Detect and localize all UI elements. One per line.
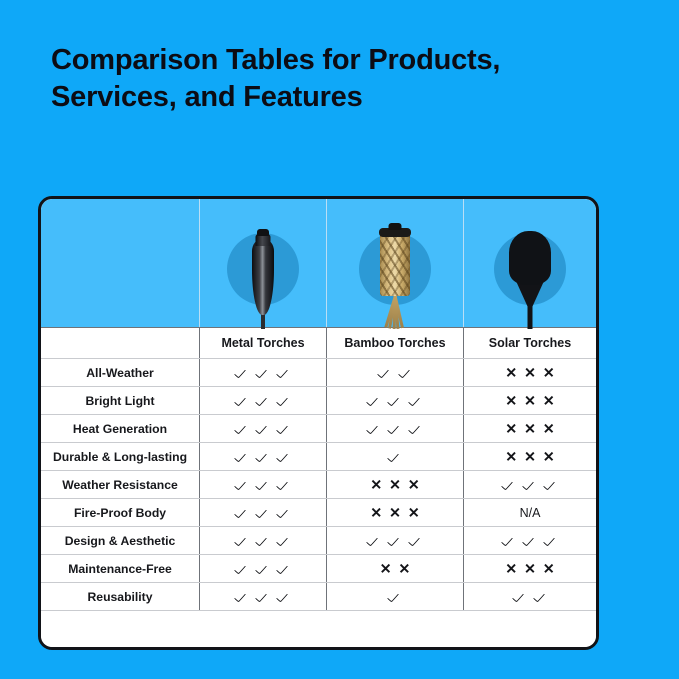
cross-icon: ✕ (524, 561, 536, 575)
check-icon (256, 506, 270, 520)
check-icon (534, 590, 548, 604)
check-icon (277, 478, 291, 492)
feature-label: Design & Aesthetic (41, 527, 199, 554)
feature-label: Heat Generation (41, 415, 199, 442)
mark-group (388, 590, 402, 604)
check-icon (256, 562, 270, 576)
cross-icon: ✕ (389, 477, 401, 491)
mark-group (235, 478, 291, 492)
rating-cell-bamboo: ✕✕✕ (326, 471, 463, 498)
table-row: Weather Resistance✕✕✕ (41, 470, 596, 498)
check-icon (235, 422, 249, 436)
check-icon (388, 590, 402, 604)
rating-cell-metal (199, 443, 326, 470)
rating-cell-solar: ✕✕✕ (463, 555, 596, 582)
feature-label: Bright Light (41, 387, 199, 414)
feature-label: Fire-Proof Body (41, 499, 199, 526)
table-row: All-Weather✕✕✕ (41, 358, 596, 386)
table-row: Maintenance-Free✕✕✕✕✕ (41, 554, 596, 582)
bamboo-torch-image-cell (326, 199, 463, 327)
cross-icon: ✕ (505, 393, 517, 407)
mark-group (367, 394, 423, 408)
mark-group (235, 506, 291, 520)
poster-canvas: Comparison Tables for Products, Services… (0, 0, 679, 679)
feature-label: Reusability (41, 583, 199, 610)
check-icon (388, 394, 402, 408)
check-icon (235, 562, 249, 576)
corner-empty-cell (41, 199, 199, 327)
check-icon (388, 450, 402, 464)
product-image-row (41, 199, 596, 327)
mark-group (502, 534, 558, 548)
mark-group: ✕✕✕ (505, 394, 554, 408)
check-icon (502, 534, 516, 548)
column-header-bamboo: Bamboo Torches (326, 328, 463, 358)
rating-cell-metal (199, 387, 326, 414)
bamboo-torch-woven-body (380, 233, 410, 296)
check-icon (513, 590, 527, 604)
mark-group: N/A (520, 506, 541, 520)
mark-group (513, 590, 548, 604)
rating-cell-metal (199, 527, 326, 554)
mark-group: ✕✕✕ (370, 506, 419, 520)
check-icon (277, 450, 291, 464)
check-icon (502, 478, 516, 492)
check-icon (523, 534, 537, 548)
mark-group: ✕✕✕ (370, 478, 419, 492)
bamboo-torch-knob (389, 223, 402, 230)
column-header-solar: Solar Torches (463, 328, 596, 358)
mark-group (388, 450, 402, 464)
rating-cell-metal (199, 471, 326, 498)
mark-group (235, 450, 291, 464)
check-icon (256, 422, 270, 436)
rating-cell-solar (463, 527, 596, 554)
not-applicable-label: N/A (520, 506, 541, 520)
mark-group: ✕✕ (380, 562, 410, 576)
check-icon (277, 422, 291, 436)
mark-group (235, 590, 291, 604)
cross-icon: ✕ (524, 421, 536, 435)
check-icon (409, 422, 423, 436)
rating-cell-solar: N/A (463, 499, 596, 526)
mark-group: ✕✕✕ (505, 450, 554, 464)
cross-icon: ✕ (524, 393, 536, 407)
check-icon (256, 366, 270, 380)
mark-group (367, 534, 423, 548)
table-row: Durable & Long-lasting✕✕✕ (41, 442, 596, 470)
mark-group (378, 366, 413, 380)
rating-cell-solar: ✕✕✕ (463, 415, 596, 442)
solar-torch-image (507, 229, 553, 329)
cross-icon: ✕ (543, 421, 555, 435)
mark-group (235, 534, 291, 548)
cross-icon: ✕ (543, 365, 555, 379)
check-icon (235, 506, 249, 520)
table-body: All-Weather✕✕✕Bright Light✕✕✕Heat Genera… (41, 358, 596, 610)
cross-icon: ✕ (543, 561, 555, 575)
bamboo-torch-image (372, 221, 418, 329)
cross-icon: ✕ (380, 561, 392, 575)
table-row: Reusability (41, 582, 596, 610)
rating-cell-solar (463, 471, 596, 498)
table-footer-strip (41, 610, 596, 647)
check-icon (277, 366, 291, 380)
metal-torch-body (252, 239, 274, 315)
column-header-row: Metal Torches Bamboo Torches Solar Torch… (41, 327, 596, 358)
check-icon (388, 422, 402, 436)
cross-icon: ✕ (408, 477, 420, 491)
metal-torch-image (243, 225, 283, 329)
cross-icon: ✕ (370, 477, 382, 491)
cross-icon: ✕ (524, 365, 536, 379)
rating-cell-bamboo (326, 415, 463, 442)
table-row: Design & Aesthetic (41, 526, 596, 554)
cross-icon: ✕ (524, 449, 536, 463)
rating-cell-metal (199, 555, 326, 582)
feature-label: All-Weather (41, 359, 199, 386)
cross-icon: ✕ (505, 365, 517, 379)
mark-group (235, 366, 291, 380)
check-icon (235, 366, 249, 380)
table-row: Bright Light✕✕✕ (41, 386, 596, 414)
rating-cell-bamboo (326, 387, 463, 414)
check-icon (277, 394, 291, 408)
check-icon (399, 366, 413, 380)
rating-cell-metal (199, 359, 326, 386)
mark-group (235, 562, 291, 576)
check-icon (256, 534, 270, 548)
cross-icon: ✕ (370, 505, 382, 519)
check-icon (367, 394, 381, 408)
mark-group: ✕✕✕ (505, 422, 554, 436)
rating-cell-metal (199, 499, 326, 526)
comparison-table: Metal Torches Bamboo Torches Solar Torch… (38, 196, 599, 650)
rating-cell-bamboo: ✕✕ (326, 555, 463, 582)
column-header-metal: Metal Torches (199, 328, 326, 358)
mark-group: ✕✕✕ (505, 562, 554, 576)
mark-group: ✕✕✕ (505, 366, 554, 380)
check-icon (235, 478, 249, 492)
cross-icon: ✕ (389, 505, 401, 519)
cross-icon: ✕ (505, 449, 517, 463)
check-icon (277, 590, 291, 604)
page-title: Comparison Tables for Products, Services… (51, 42, 611, 115)
solar-torch-lantern-head (509, 231, 551, 285)
check-icon (256, 394, 270, 408)
check-icon (544, 534, 558, 548)
feature-label: Maintenance-Free (41, 555, 199, 582)
table-row: Heat Generation✕✕✕ (41, 414, 596, 442)
feature-label: Durable & Long-lasting (41, 443, 199, 470)
rating-cell-metal (199, 415, 326, 442)
check-icon (409, 534, 423, 548)
rating-cell-bamboo (326, 443, 463, 470)
check-icon (256, 450, 270, 464)
rating-cell-solar: ✕✕✕ (463, 443, 596, 470)
check-icon (256, 590, 270, 604)
mark-group (235, 394, 291, 408)
rating-cell-bamboo: ✕✕✕ (326, 499, 463, 526)
check-icon (367, 422, 381, 436)
rating-cell-bamboo (326, 583, 463, 610)
check-icon (277, 534, 291, 548)
mark-group (235, 422, 291, 436)
rating-cell-bamboo (326, 359, 463, 386)
cross-icon: ✕ (505, 561, 517, 575)
mark-group (367, 422, 423, 436)
cross-icon: ✕ (543, 449, 555, 463)
check-icon (277, 506, 291, 520)
check-icon (523, 478, 537, 492)
solar-torch-image-cell (463, 199, 596, 327)
rating-cell-solar: ✕✕✕ (463, 387, 596, 414)
check-icon (277, 562, 291, 576)
check-icon (235, 394, 249, 408)
check-icon (235, 534, 249, 548)
check-icon (235, 590, 249, 604)
check-icon (388, 534, 402, 548)
metal-torch-cap (257, 229, 269, 236)
check-icon (367, 534, 381, 548)
cross-icon: ✕ (543, 393, 555, 407)
cross-icon: ✕ (399, 561, 411, 575)
cross-icon: ✕ (408, 505, 420, 519)
column-header-feature (41, 328, 199, 358)
check-icon (409, 394, 423, 408)
feature-label: Weather Resistance (41, 471, 199, 498)
check-icon (235, 450, 249, 464)
rating-cell-metal (199, 583, 326, 610)
mark-group (502, 478, 558, 492)
check-icon (378, 366, 392, 380)
rating-cell-solar: ✕✕✕ (463, 359, 596, 386)
rating-cell-solar (463, 583, 596, 610)
metal-torch-image-cell (199, 199, 326, 327)
rating-cell-bamboo (326, 527, 463, 554)
check-icon (256, 478, 270, 492)
check-icon (544, 478, 558, 492)
table-row: Fire-Proof Body✕✕✕N/A (41, 498, 596, 526)
cross-icon: ✕ (505, 421, 517, 435)
